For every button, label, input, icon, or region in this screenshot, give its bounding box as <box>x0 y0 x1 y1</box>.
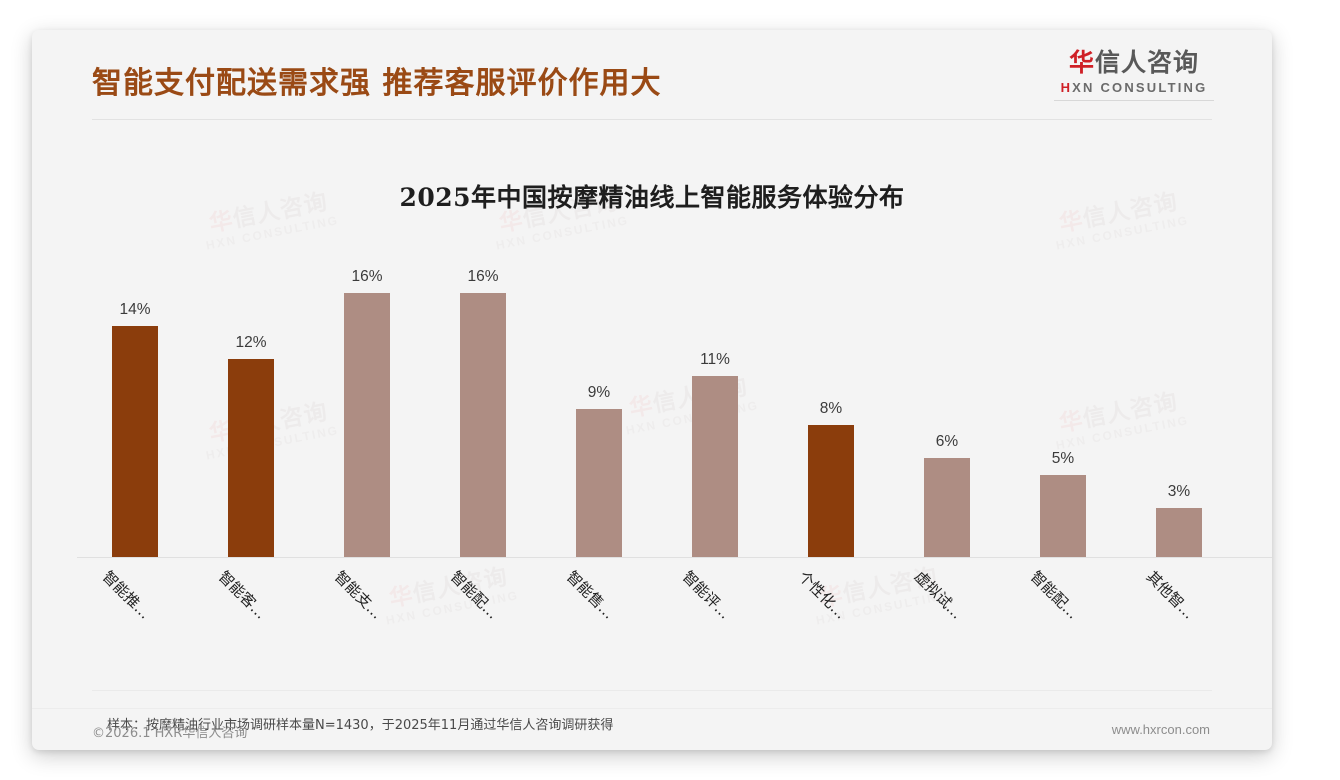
chart-bar[interactable]: 11% <box>692 376 738 558</box>
chart-bar-group: 6% <box>889 260 1005 557</box>
chart-bar-value-label: 3% <box>1168 483 1190 501</box>
chart-bar-group: 5% <box>1005 260 1121 557</box>
footer-copyright: ©2026.1 HXR华信人咨询 <box>92 722 247 741</box>
chart-bar[interactable]: 14% <box>112 326 158 557</box>
slide-header: 智能支付配送需求强 推荐客服评价作用大 华信人咨询 HXN CONSULTING <box>32 30 1272 120</box>
chart-bar[interactable]: 12% <box>228 359 274 557</box>
chart-bar-value-label: 6% <box>936 433 958 451</box>
chart-bar-group: 16% <box>425 260 541 557</box>
chart-bar[interactable]: 16% <box>344 293 390 557</box>
chart-x-tick-label: 智能配… <box>446 566 503 623</box>
header-divider <box>92 119 1212 120</box>
chart-bar-group: 14% <box>77 260 193 557</box>
chart-bar[interactable]: 5% <box>1040 475 1086 558</box>
watermark: 华信人咨询HXN CONSULTING <box>360 559 540 632</box>
chart-x-tick-label: 智能支… <box>330 566 387 623</box>
chart-x-tick-label: 智能评… <box>678 566 735 623</box>
brand-logo-english-first: H <box>1061 80 1073 95</box>
chart-bar[interactable]: 3% <box>1156 508 1202 558</box>
chart-bar[interactable]: 16% <box>460 293 506 557</box>
chart-bar[interactable]: 6% <box>924 458 970 557</box>
chart-plot-area: 14%12%16%16%9%11%8%6%5%3% <box>77 260 1237 557</box>
chart-x-tick-label: 智能推… <box>98 566 155 623</box>
chart-bar-value-label: 14% <box>119 301 150 319</box>
watermark-english: HXN CONSULTING <box>365 584 540 631</box>
footer-website[interactable]: www.hxrcon.com <box>1112 722 1210 737</box>
watermark-english: HXN CONSULTING <box>475 209 650 256</box>
chart-bar-group: 12% <box>193 260 309 557</box>
watermark-english: HXN CONSULTING <box>185 209 360 256</box>
chart-bar-group: 16% <box>309 260 425 557</box>
chart-x-tick-label: 智能配… <box>1026 566 1083 623</box>
chart-bar-group: 3% <box>1121 260 1237 557</box>
watermark-english: HXN CONSULTING <box>1035 209 1210 256</box>
chart-bar-value-label: 12% <box>235 334 266 352</box>
brand-logo-english: HXN CONSULTING <box>1054 80 1214 95</box>
brand-logo: 华信人咨询 HXN CONSULTING <box>1054 48 1214 101</box>
chart-x-tick-label: 智能售… <box>562 566 619 623</box>
chart-bar-value-label: 8% <box>820 400 842 418</box>
chart-x-tick-label: 其他智… <box>1142 566 1199 623</box>
note-divider <box>92 690 1212 691</box>
chart-bar-group: 11% <box>657 260 773 557</box>
brand-logo-chinese-rest: 信人咨询 <box>1095 48 1199 77</box>
brand-logo-chinese: 华信人咨询 <box>1054 48 1214 78</box>
chart-bar[interactable]: 8% <box>808 425 854 557</box>
chart-bar-value-label: 16% <box>351 268 382 286</box>
chart-title: 2025年中国按摩精油线上智能服务体验分布 <box>32 178 1272 214</box>
chart-bar-value-label: 11% <box>700 351 730 369</box>
brand-logo-english-rest: XN CONSULTING <box>1072 80 1207 95</box>
chart-bar-group: 8% <box>773 260 889 557</box>
chart-bar[interactable]: 9% <box>576 409 622 558</box>
chart-bar-group: 9% <box>541 260 657 557</box>
chart-x-tick-label: 个性化… <box>794 566 851 623</box>
chart-x-tick-label: 智能客… <box>214 566 271 623</box>
chart-axis-baseline <box>77 557 1272 558</box>
brand-logo-rule <box>1054 100 1214 101</box>
slide-card: 智能支付配送需求强 推荐客服评价作用大 华信人咨询 HXN CONSULTING… <box>32 30 1272 750</box>
chart-bar-value-label: 9% <box>588 384 610 402</box>
page-title: 智能支付配送需求强 推荐客服评价作用大 <box>92 58 661 102</box>
chart-x-tick-label: 虚拟试… <box>910 566 967 623</box>
slide-footer: ©2026.1 HXR华信人咨询 www.hxrcon.com <box>32 708 1272 750</box>
brand-logo-chinese-first: 华 <box>1069 48 1095 77</box>
chart-bar-value-label: 16% <box>467 268 498 286</box>
chart-bar-value-label: 5% <box>1052 450 1074 468</box>
